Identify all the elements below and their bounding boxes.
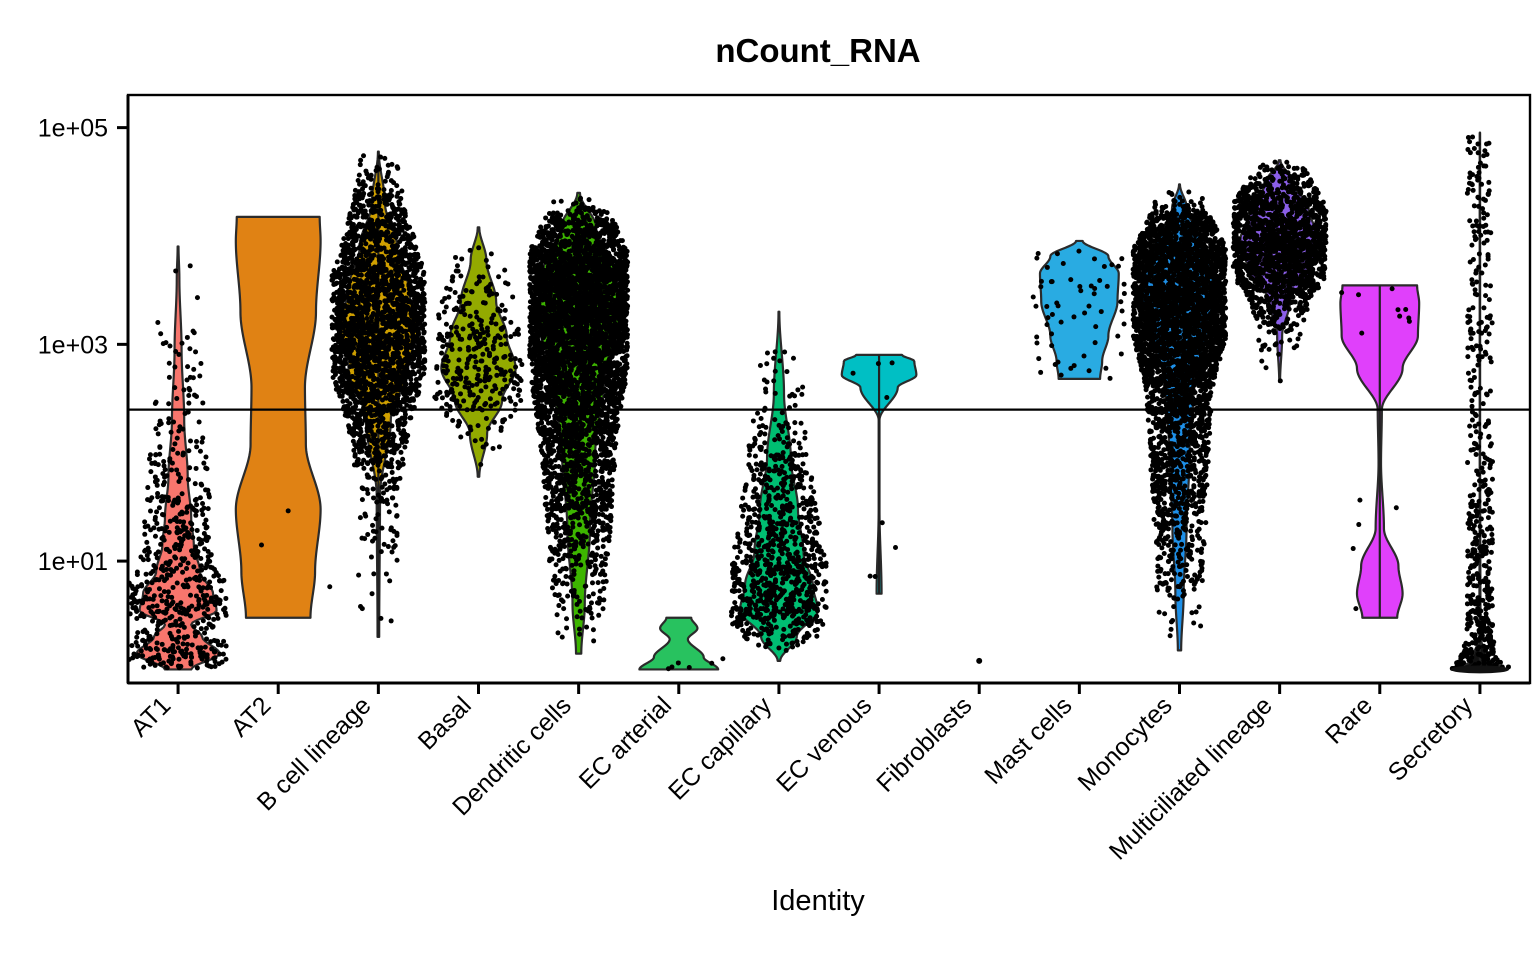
data-point xyxy=(400,234,405,239)
data-point xyxy=(195,621,200,626)
data-point xyxy=(516,327,521,332)
data-point xyxy=(129,643,134,648)
data-point xyxy=(398,264,403,269)
data-point xyxy=(383,346,388,351)
data-point xyxy=(483,384,488,389)
data-point xyxy=(517,376,522,381)
data-point xyxy=(381,261,386,266)
data-point xyxy=(174,467,179,472)
data-point xyxy=(380,381,385,386)
data-point xyxy=(487,353,492,358)
data-point xyxy=(155,640,160,645)
data-point xyxy=(181,558,186,563)
data-point xyxy=(556,630,561,635)
data-point xyxy=(205,655,210,660)
data-point xyxy=(435,392,440,397)
data-point xyxy=(600,475,605,480)
data-point xyxy=(373,312,378,317)
data-point xyxy=(201,461,206,466)
data-point xyxy=(363,208,368,213)
data-point xyxy=(166,594,171,599)
data-point xyxy=(187,532,192,537)
data-point xyxy=(374,337,379,342)
data-point xyxy=(166,498,171,503)
data-point xyxy=(394,229,399,234)
data-point xyxy=(419,316,424,321)
data-point xyxy=(170,622,175,627)
data-point xyxy=(503,341,508,346)
data-point xyxy=(505,281,510,286)
data-point xyxy=(200,400,205,405)
data-point xyxy=(437,316,442,321)
data-point xyxy=(352,290,357,295)
data-point xyxy=(215,639,220,644)
data-point xyxy=(365,337,370,342)
data-point xyxy=(454,306,459,311)
data-point xyxy=(393,443,398,448)
data-point xyxy=(204,614,209,619)
data-point xyxy=(148,469,153,474)
data-point xyxy=(180,570,185,575)
data-point xyxy=(208,599,213,604)
data-point xyxy=(144,580,149,585)
data-point xyxy=(347,279,352,284)
data-point xyxy=(135,569,140,574)
data-point xyxy=(158,593,163,598)
data-point xyxy=(353,207,358,212)
data-point xyxy=(179,649,184,654)
data-point xyxy=(488,396,493,401)
data-point xyxy=(181,641,186,646)
data-point xyxy=(142,532,147,537)
data-point xyxy=(341,310,346,315)
data-point xyxy=(358,312,363,317)
data-point xyxy=(157,422,162,427)
data-point xyxy=(479,388,484,393)
data-point xyxy=(370,277,375,282)
data-point xyxy=(459,256,464,261)
data-point xyxy=(194,509,199,514)
data-point xyxy=(373,401,378,406)
data-point xyxy=(365,532,370,537)
data-point xyxy=(185,335,190,340)
data-point xyxy=(215,616,220,621)
data-point xyxy=(172,365,177,370)
data-point xyxy=(354,200,359,205)
data-point xyxy=(188,263,193,268)
data-point xyxy=(470,383,475,388)
data-point xyxy=(364,253,369,258)
data-point xyxy=(486,333,491,338)
data-point xyxy=(339,243,344,248)
data-point xyxy=(360,186,365,191)
data-point xyxy=(474,315,479,320)
data-point xyxy=(360,280,365,285)
data-point xyxy=(515,382,520,387)
data-point xyxy=(360,485,365,490)
data-point xyxy=(371,495,376,500)
data-point xyxy=(493,402,498,407)
data-point xyxy=(421,272,426,277)
data-point xyxy=(369,186,374,191)
data-point xyxy=(145,587,150,592)
data-point xyxy=(167,375,172,380)
data-point xyxy=(355,424,360,429)
data-point xyxy=(491,446,496,451)
data-point xyxy=(387,578,392,583)
data-point xyxy=(156,655,161,660)
data-point xyxy=(201,506,206,511)
data-point xyxy=(135,654,140,659)
data-point xyxy=(375,418,380,423)
data-point xyxy=(180,491,185,496)
data-point xyxy=(356,195,361,200)
data-point xyxy=(359,340,364,345)
data-point xyxy=(408,415,413,420)
data-point xyxy=(441,338,446,343)
data-point xyxy=(577,627,582,632)
data-point xyxy=(351,426,356,431)
data-point xyxy=(348,211,353,216)
data-point xyxy=(200,435,205,440)
data-point xyxy=(419,337,424,342)
data-point xyxy=(494,356,499,361)
data-point xyxy=(394,477,399,482)
data-point xyxy=(379,437,384,442)
data-point xyxy=(175,581,180,586)
data-point xyxy=(330,325,335,330)
data-point xyxy=(135,630,140,635)
data-point xyxy=(450,279,455,284)
data-point xyxy=(160,495,165,500)
data-point xyxy=(400,457,405,462)
data-point xyxy=(466,345,471,350)
data-point xyxy=(162,480,167,485)
data-point xyxy=(503,354,508,359)
data-point xyxy=(213,594,218,599)
data-point xyxy=(199,568,204,573)
data-point xyxy=(382,287,387,292)
data-point xyxy=(507,395,512,400)
data-point xyxy=(178,600,183,605)
data-point xyxy=(216,573,221,578)
data-point xyxy=(391,351,396,356)
data-point xyxy=(152,615,157,620)
data-point xyxy=(357,363,362,368)
data-point xyxy=(452,381,457,386)
data-point xyxy=(387,509,392,514)
data-point xyxy=(367,383,372,388)
data-point xyxy=(338,304,343,309)
data-point xyxy=(172,544,177,549)
data-point xyxy=(361,153,366,158)
data-point xyxy=(481,300,486,305)
data-point xyxy=(129,601,134,606)
data-point xyxy=(356,439,361,444)
data-point xyxy=(167,361,172,366)
data-point xyxy=(194,607,199,612)
data-point xyxy=(388,294,393,299)
data-point xyxy=(373,477,378,482)
data-point xyxy=(183,608,188,613)
data-point xyxy=(410,369,415,374)
data-point xyxy=(464,301,469,306)
data-point xyxy=(359,429,364,434)
data-point xyxy=(367,217,372,222)
data-point xyxy=(489,251,494,256)
data-point xyxy=(393,323,398,328)
data-point xyxy=(193,634,198,639)
data-point xyxy=(155,320,160,325)
data-point xyxy=(583,584,588,589)
data-point xyxy=(508,320,513,325)
data-point xyxy=(134,607,139,612)
data-point xyxy=(468,248,473,253)
data-point xyxy=(369,438,374,443)
data-point xyxy=(376,231,381,236)
data-point xyxy=(411,258,416,263)
data-point xyxy=(389,618,394,623)
data-point xyxy=(161,660,166,665)
data-point xyxy=(193,513,198,518)
data-point xyxy=(389,178,394,183)
data-point xyxy=(387,324,392,329)
data-point xyxy=(169,468,174,473)
data-point xyxy=(363,289,368,294)
data-point xyxy=(591,591,596,596)
data-point xyxy=(172,385,177,390)
data-point xyxy=(153,534,158,539)
data-point xyxy=(392,290,397,295)
data-point xyxy=(187,386,192,391)
data-point xyxy=(464,288,469,293)
data-point xyxy=(465,361,470,366)
data-point xyxy=(391,545,396,550)
data-point xyxy=(148,571,153,576)
data-point xyxy=(389,337,394,342)
data-point xyxy=(366,475,371,480)
data-point xyxy=(345,398,350,403)
data-point xyxy=(363,301,368,306)
data-point xyxy=(402,272,407,277)
data-point xyxy=(339,354,344,359)
data-point xyxy=(342,373,347,378)
data-point xyxy=(176,428,181,433)
data-point xyxy=(177,610,182,615)
data-point xyxy=(362,248,367,253)
data-point xyxy=(383,339,388,344)
data-point xyxy=(367,374,372,379)
data-point xyxy=(182,625,187,630)
data-point xyxy=(195,666,200,671)
data-point xyxy=(492,420,497,425)
data-point xyxy=(154,509,159,514)
data-point xyxy=(148,452,153,457)
data-point xyxy=(511,386,516,391)
data-point xyxy=(413,293,418,298)
data-point xyxy=(181,387,186,392)
data-point xyxy=(418,349,423,354)
data-point xyxy=(204,636,209,641)
data-point xyxy=(392,484,397,489)
data-point xyxy=(375,195,380,200)
data-point xyxy=(375,445,380,450)
data-point xyxy=(375,218,380,223)
data-point xyxy=(223,596,228,601)
data-point xyxy=(395,243,400,248)
data-point xyxy=(448,344,453,349)
data-point xyxy=(212,649,217,654)
data-point xyxy=(378,429,383,434)
data-point xyxy=(372,304,377,309)
data-point xyxy=(336,318,341,323)
data-point xyxy=(356,419,361,424)
data-point xyxy=(161,512,166,517)
data-point xyxy=(497,444,502,449)
data-point xyxy=(160,598,165,603)
data-point xyxy=(200,605,205,610)
data-point xyxy=(185,377,190,382)
data-point xyxy=(358,321,363,326)
data-point xyxy=(207,579,212,584)
data-point xyxy=(416,281,421,286)
data-point xyxy=(151,563,156,568)
data-point xyxy=(203,518,208,523)
data-point xyxy=(458,391,463,396)
data-point xyxy=(176,498,181,503)
data-point xyxy=(187,465,192,470)
data-point xyxy=(368,257,373,262)
data-point xyxy=(348,364,353,369)
data-point xyxy=(449,333,454,338)
data-point xyxy=(358,395,363,400)
data-point xyxy=(224,643,229,648)
data-point xyxy=(395,343,400,348)
data-point xyxy=(352,277,357,282)
data-point xyxy=(377,210,382,215)
data-point xyxy=(396,218,401,223)
data-point xyxy=(203,454,208,459)
data-point xyxy=(375,423,380,428)
data-point xyxy=(170,447,175,452)
data-point xyxy=(340,296,345,301)
data-point xyxy=(373,239,378,244)
data-point xyxy=(436,380,441,385)
data-point xyxy=(363,514,368,519)
data-point xyxy=(215,612,220,617)
data-point xyxy=(184,510,189,515)
data-point xyxy=(418,265,423,270)
data-point xyxy=(193,349,198,354)
data-point xyxy=(454,330,459,335)
data-point xyxy=(369,364,374,369)
data-point xyxy=(360,336,365,341)
data-point xyxy=(200,501,205,506)
data-point xyxy=(439,351,444,356)
data-point xyxy=(450,418,455,423)
data-point xyxy=(380,485,385,490)
data-point xyxy=(403,309,408,314)
data-point xyxy=(358,158,363,163)
data-point xyxy=(491,346,496,351)
data-point xyxy=(396,465,401,470)
data-point xyxy=(473,335,478,340)
data-point xyxy=(456,269,461,274)
data-point xyxy=(171,420,176,425)
data-point xyxy=(379,526,384,531)
data-point xyxy=(147,646,152,651)
data-point xyxy=(422,358,427,363)
data-point xyxy=(390,403,395,408)
data-point xyxy=(134,599,139,604)
data-point xyxy=(485,347,490,352)
data-point xyxy=(186,393,191,398)
data-point xyxy=(481,274,486,279)
data-point xyxy=(382,277,387,282)
data-point xyxy=(147,456,152,461)
data-point xyxy=(404,343,409,348)
data-point xyxy=(382,321,387,326)
data-point xyxy=(377,332,382,337)
data-point xyxy=(395,166,400,171)
data-point xyxy=(407,354,412,359)
data-point xyxy=(440,344,445,349)
data-point xyxy=(379,496,384,501)
data-point xyxy=(157,444,162,449)
data-point xyxy=(359,238,364,243)
data-point xyxy=(195,551,200,556)
data-point xyxy=(472,365,477,370)
data-point xyxy=(178,512,183,517)
data-point xyxy=(188,593,193,598)
data-point xyxy=(188,438,193,443)
data-point xyxy=(378,616,383,621)
data-point xyxy=(461,327,466,332)
data-point xyxy=(157,505,162,510)
data-point xyxy=(417,376,422,381)
data-point xyxy=(377,200,382,205)
data-point xyxy=(355,282,360,287)
data-point xyxy=(347,321,352,326)
data-point xyxy=(474,310,479,315)
data-point xyxy=(184,578,189,583)
data-point xyxy=(493,336,498,341)
data-point xyxy=(138,555,143,560)
data-point xyxy=(349,333,354,338)
data-point xyxy=(458,435,463,440)
data-point xyxy=(375,395,380,400)
data-point xyxy=(394,533,399,538)
data-point xyxy=(151,525,156,530)
data-point xyxy=(556,603,561,608)
data-point xyxy=(186,401,191,406)
data-point xyxy=(200,657,205,662)
data-point xyxy=(473,438,478,443)
data-point xyxy=(468,314,473,319)
data-point xyxy=(421,371,426,376)
data-point xyxy=(367,198,372,203)
data-point xyxy=(486,367,491,372)
data-point xyxy=(387,257,392,262)
data-point xyxy=(392,318,397,323)
data-point xyxy=(454,325,459,330)
data-point xyxy=(383,473,388,478)
data-point xyxy=(410,328,415,333)
data-point xyxy=(379,476,384,481)
data-point xyxy=(369,191,374,196)
data-point xyxy=(191,375,196,380)
data-point xyxy=(198,650,203,655)
